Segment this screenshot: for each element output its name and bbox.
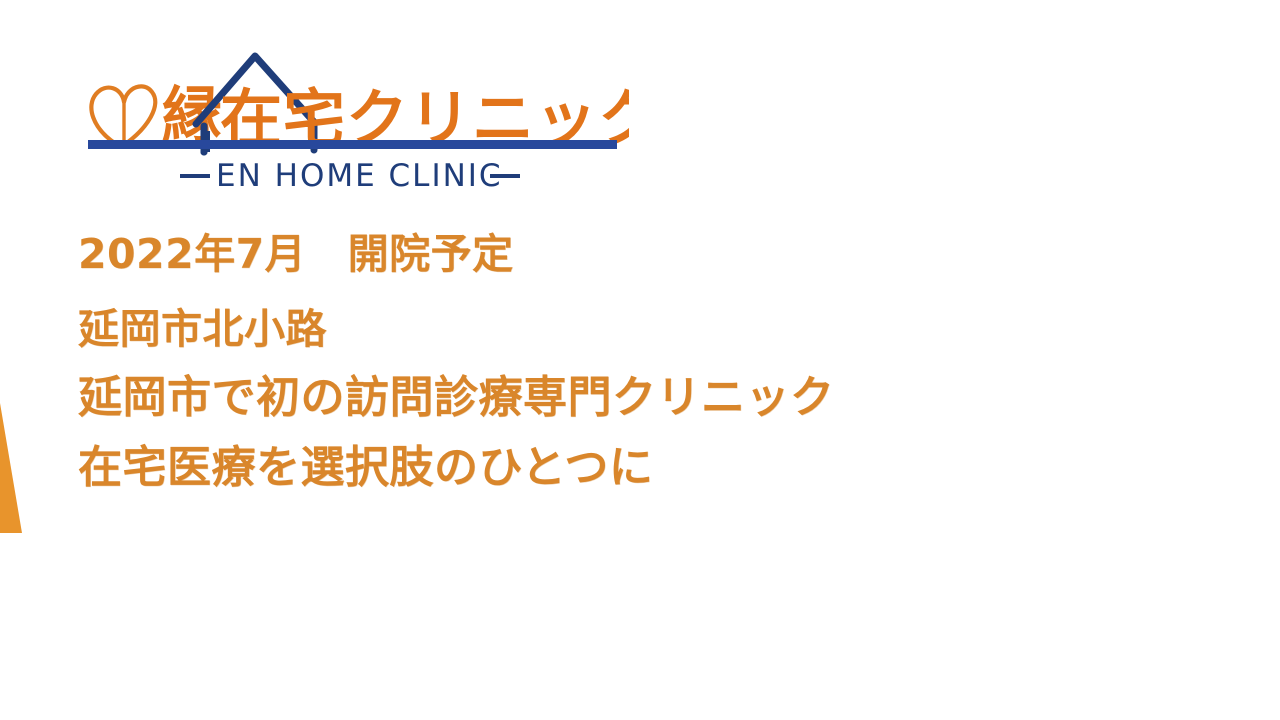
headline-line-2: 延岡市北小路 [78, 309, 1198, 350]
headline-line-4: 在宅医療を選択肢のひとつに [78, 446, 1198, 490]
logo-tagline: EN HOME CLINIC [216, 158, 503, 194]
headline-line-3: 延岡市で初の訪問診療専門クリニック [78, 376, 1198, 420]
logo-tagline-group: EN HOME CLINIC [180, 158, 520, 194]
orange-triangle-wedge [0, 403, 24, 535]
en-home-clinic-logo: 縁 在宅クリニック EN HOME CLINIC [84, 36, 629, 196]
heart-outline-icon [91, 86, 155, 145]
headline-block: 2022年7月 開院予定 延岡市北小路 延岡市で初の訪問診療専門クリニック 在宅… [78, 234, 1198, 490]
slide-canvas: 縁 在宅クリニック EN HOME CLINIC [0, 0, 1280, 720]
logo-divider-bar [88, 140, 617, 149]
headline-line-1: 2022年7月 開院予定 [78, 234, 1198, 275]
